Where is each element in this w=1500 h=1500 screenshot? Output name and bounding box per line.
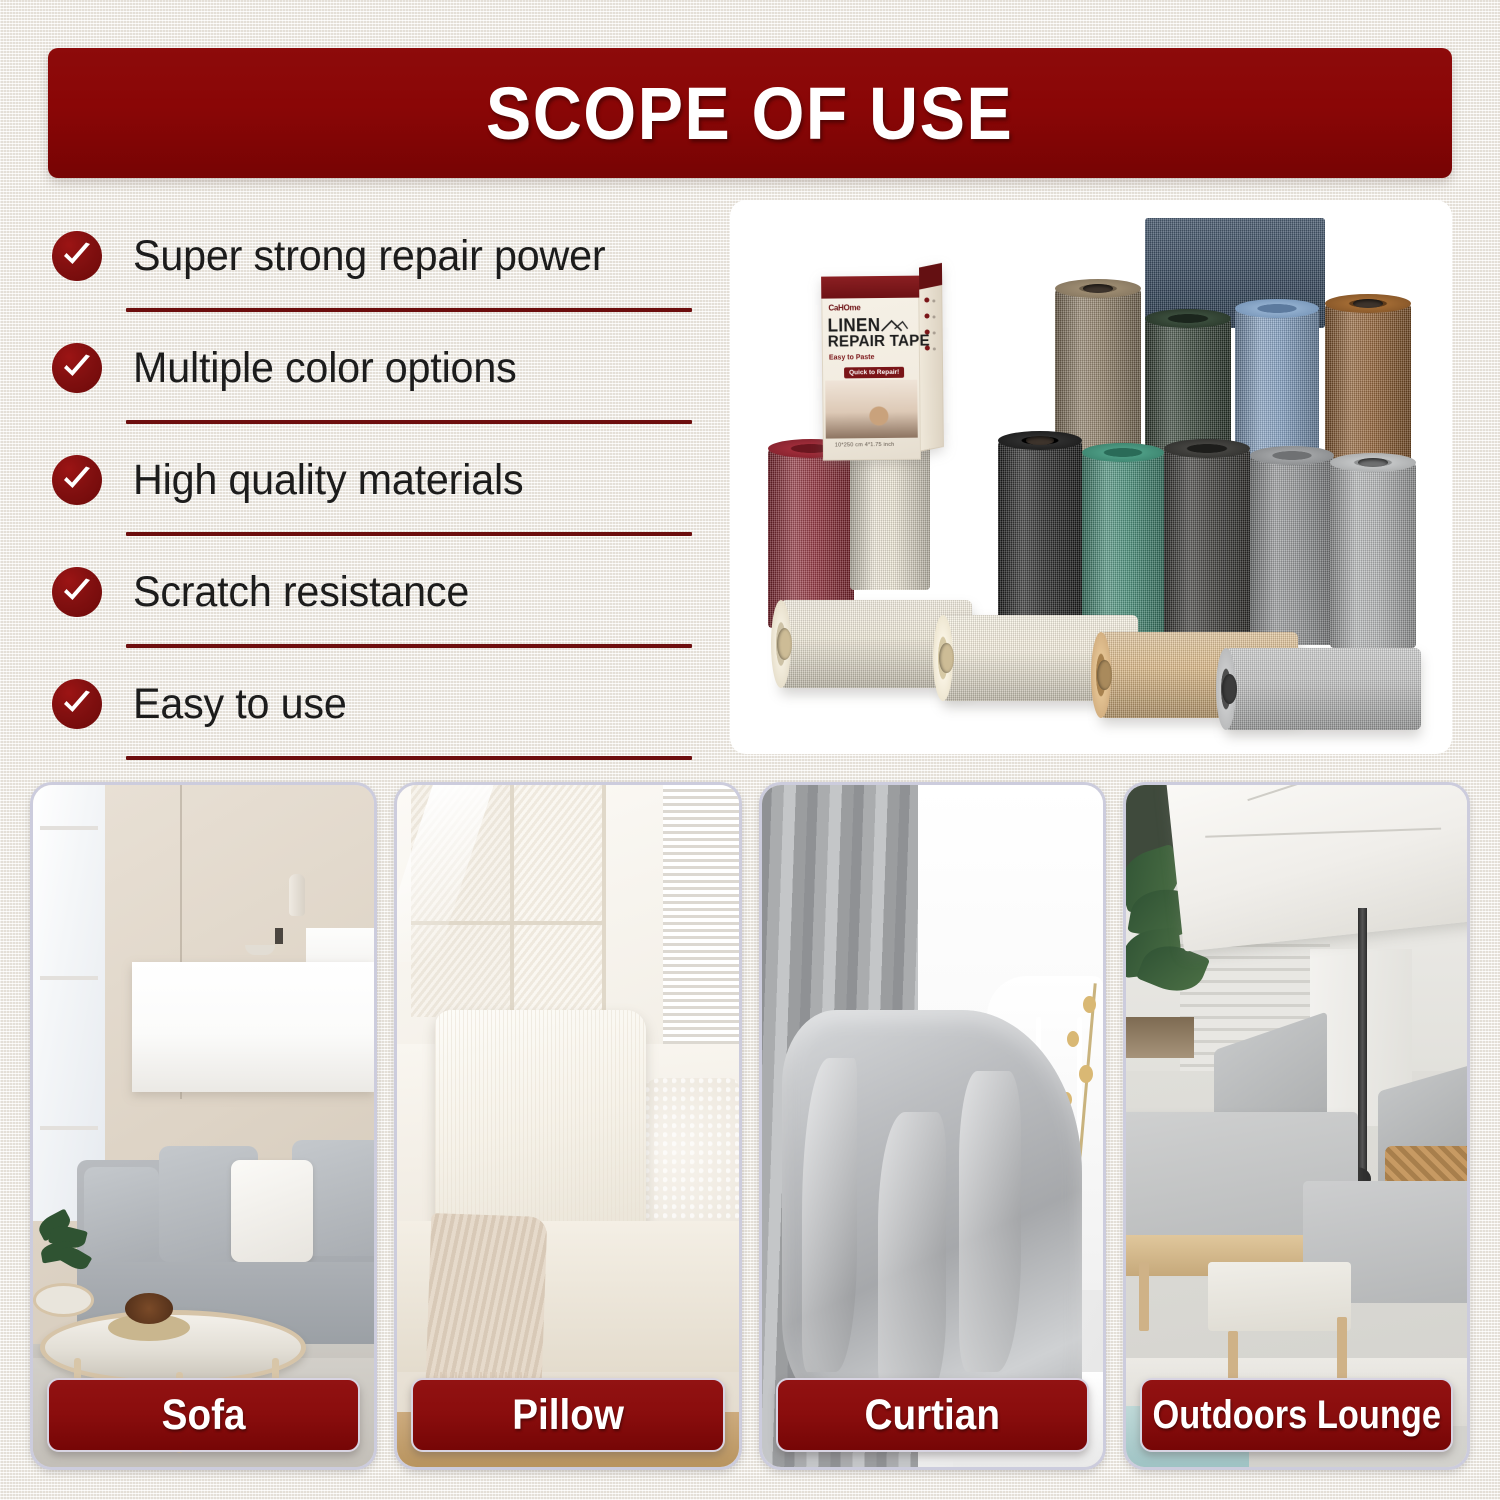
roll-core-hole xyxy=(1358,458,1387,467)
check-circle-icon xyxy=(52,231,102,281)
feature-item: Scratch resistance xyxy=(48,536,703,648)
roll-top xyxy=(1164,439,1250,458)
page-title: SCOPE OF USE xyxy=(486,71,1013,156)
box-photo-sofa-dog xyxy=(825,380,918,439)
use-case-card-pillow[interactable]: Pillow xyxy=(394,782,741,1470)
tape-roll-charcoal xyxy=(1164,448,1250,644)
photo-grey-curtain xyxy=(762,785,1103,1467)
roll-top xyxy=(1250,446,1334,465)
header-banner: SCOPE OF USE xyxy=(48,48,1452,178)
tape-roll-light-grey xyxy=(1330,462,1416,648)
use-case-label-pillow: Pillow xyxy=(411,1378,724,1452)
roll-top xyxy=(1082,443,1164,462)
house-roof-icon xyxy=(880,318,910,334)
check-circle-icon xyxy=(52,679,102,729)
use-case-label-sofa: Sofa xyxy=(47,1378,360,1452)
roll-core-hole xyxy=(777,628,792,660)
box-size-text: 10*250 cm 4*1.75 inch xyxy=(835,442,895,449)
check-circle-icon xyxy=(52,567,102,617)
feature-label: Super strong repair power xyxy=(133,232,605,281)
roll-core-hole xyxy=(939,643,954,674)
roll-core-hole xyxy=(1026,436,1055,445)
tape-roll-silver-grey xyxy=(1225,648,1421,730)
use-case-card-outdoors-lounge[interactable]: Outdoors Lounge xyxy=(1123,782,1470,1470)
roll-top xyxy=(1325,294,1411,313)
use-case-card-curtain[interactable]: Curtian xyxy=(759,782,1106,1470)
use-case-label-curtain: Curtian xyxy=(776,1378,1089,1452)
use-case-card-sofa[interactable]: Sofa xyxy=(30,782,377,1470)
feature-item: Super strong repair power xyxy=(48,200,703,312)
tape-roll-medium-grey xyxy=(1250,455,1334,645)
feature-item: Easy to use xyxy=(48,648,703,760)
feature-divider xyxy=(126,756,692,760)
product-box: CaHOme LINEN REPAIR TAPE Easy to Paste Q… xyxy=(821,267,944,460)
box-top-band xyxy=(821,276,919,299)
box-title-line2: REPAIR TAPE xyxy=(828,333,930,352)
tape-roll-ivory-standing xyxy=(850,438,930,590)
feature-label: High quality materials xyxy=(133,456,523,505)
feature-item: Multiple color options xyxy=(48,312,703,424)
check-circle-icon xyxy=(52,455,102,505)
box-badge: Quick to Repair! xyxy=(844,367,904,379)
box-subtitle: Easy to Paste xyxy=(829,354,875,361)
feature-item: High quality materials xyxy=(48,424,703,536)
feature-list: Super strong repair power Multiple color… xyxy=(48,200,703,760)
check-circle-icon xyxy=(52,343,102,393)
box-feature-dots xyxy=(924,297,939,361)
brand-logo: CaHOme xyxy=(828,303,860,312)
tape-roll-arrangement: CaHOme LINEN REPAIR TAPE Easy to Paste Q… xyxy=(730,200,1452,754)
roll-core-hole xyxy=(1083,284,1112,293)
use-case-label-outdoors-lounge: Outdoors Lounge xyxy=(1140,1378,1453,1452)
roll-top xyxy=(1145,309,1231,328)
roll-top xyxy=(1055,279,1141,298)
photo-pillow-chair xyxy=(397,785,738,1467)
feature-label: Easy to use xyxy=(133,680,347,729)
use-case-gallery: Sofa Pillow xyxy=(30,782,1470,1470)
photo-living-room-sofa xyxy=(33,785,374,1467)
roll-top xyxy=(1330,453,1416,472)
feature-label: Multiple color options xyxy=(133,344,517,393)
roll-top xyxy=(1235,299,1319,318)
roll-core-hole xyxy=(1097,660,1112,691)
photo-poolside-loungers xyxy=(1126,785,1467,1467)
roll-top xyxy=(998,431,1082,450)
feature-label: Scratch resistance xyxy=(133,568,469,617)
roll-core-hole xyxy=(1222,674,1237,704)
roll-core-hole xyxy=(1353,299,1382,308)
box-side-band xyxy=(919,263,942,290)
tape-roll-black xyxy=(998,440,1082,640)
product-image-panel: CaHOme LINEN REPAIR TAPE Easy to Paste Q… xyxy=(730,200,1452,754)
